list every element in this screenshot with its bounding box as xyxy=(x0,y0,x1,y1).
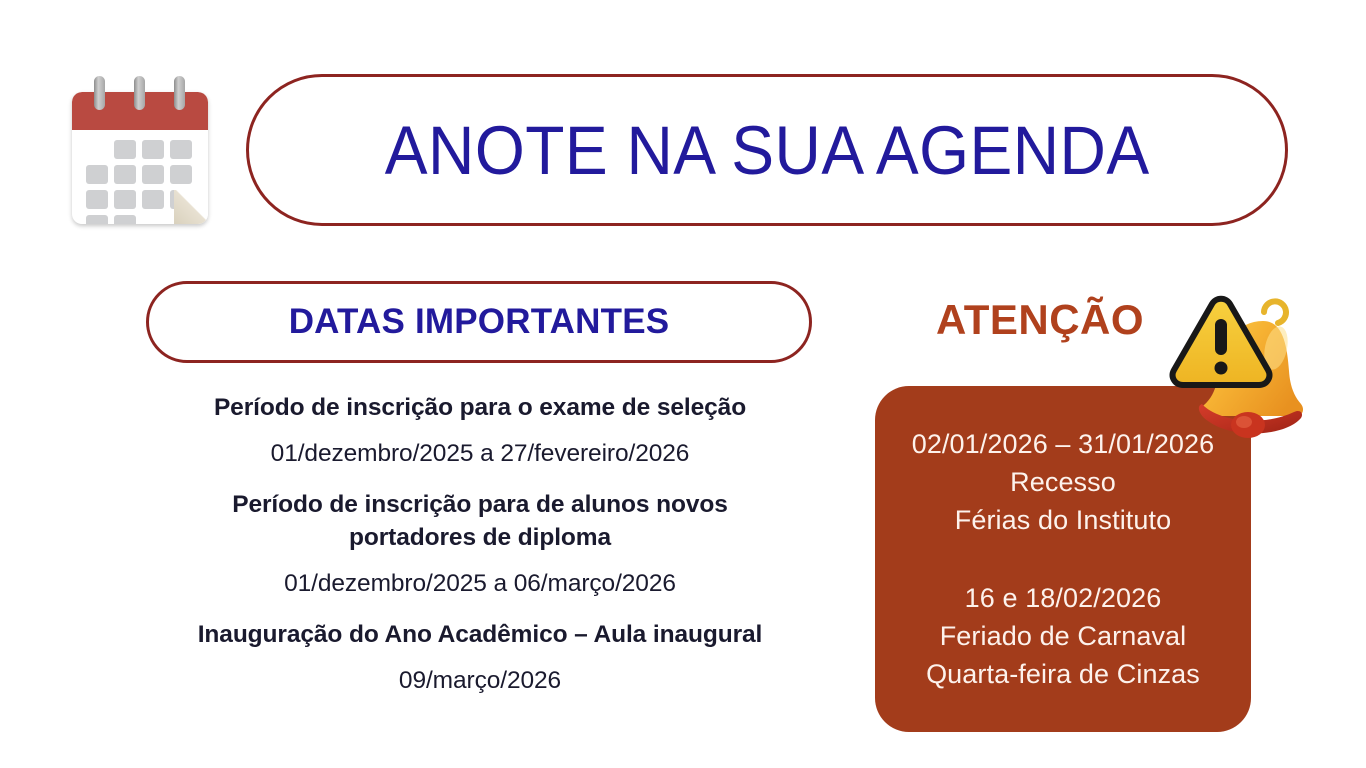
date-entry: Período de inscrição para de alunos novo… xyxy=(130,489,830,599)
important-dates-list: Período de inscrição para o exame de sel… xyxy=(130,392,830,697)
calendar-day-cell xyxy=(142,165,164,184)
attention-heading: ATENÇÃO xyxy=(936,296,1144,344)
date-entry-title: Período de inscrição para de alunos novo… xyxy=(130,489,830,522)
date-entry-title: Inauguração do Ano Acadêmico – Aula inau… xyxy=(130,619,830,652)
calendar-ring xyxy=(94,76,105,110)
date-entry-value: 01/dezembro/2025 a 06/março/2026 xyxy=(130,568,830,600)
date-entry-value: 09/março/2026 xyxy=(130,665,830,697)
calendar-day-cell xyxy=(114,165,136,184)
calendar-day-cell xyxy=(142,140,164,159)
calendar-body xyxy=(72,92,208,224)
date-entry: Inauguração do Ano Acadêmico – Aula inau… xyxy=(130,619,830,696)
calendar-day-cell xyxy=(86,165,108,184)
calendar-day-cell xyxy=(86,215,108,224)
notice-detail: Quarta-feira de Cinzas xyxy=(926,655,1200,693)
calendar-day-cell xyxy=(86,140,108,159)
notice-label: Recesso xyxy=(912,463,1215,501)
page-title: ANOTE NA SUA AGENDA xyxy=(385,111,1150,190)
warning-triangle-icon xyxy=(1173,299,1270,385)
calendar-day-cell xyxy=(170,165,192,184)
calendar-day-cell xyxy=(114,140,136,159)
calendar-page-fold xyxy=(174,190,208,224)
notice-date: 16 e 18/02/2026 xyxy=(926,579,1200,617)
calendar-day-cell xyxy=(170,140,192,159)
calendar-ring xyxy=(174,76,185,110)
date-entry: Período de inscrição para o exame de sel… xyxy=(130,392,830,469)
calendar-icon xyxy=(72,76,208,224)
calendar-rings xyxy=(72,76,208,110)
section-title-banner: DATAS IMPORTANTES xyxy=(146,281,812,363)
calendar-day-cell xyxy=(142,190,164,209)
calendar-day-cell xyxy=(86,190,108,209)
date-entry-title-cont: portadores de diploma xyxy=(130,522,830,555)
calendar-day-cell xyxy=(114,215,136,224)
notice-label: Feriado de Carnaval xyxy=(926,617,1200,655)
notice-block: 16 e 18/02/2026 Feriado de Carnaval Quar… xyxy=(926,579,1200,694)
section-title: DATAS IMPORTANTES xyxy=(289,302,670,342)
bell-icon xyxy=(1168,286,1316,446)
slide-canvas: ANOTE NA SUA AGENDA DATAS IMPORTANTES Pe… xyxy=(0,0,1366,768)
date-entry-title: Período de inscrição para o exame de sel… xyxy=(130,392,830,425)
main-title-banner: ANOTE NA SUA AGENDA xyxy=(246,74,1288,226)
calendar-day-cell xyxy=(142,215,164,224)
calendar-day-cell xyxy=(114,190,136,209)
calendar-ring xyxy=(134,76,145,110)
date-entry-value: 01/dezembro/2025 a 27/fevereiro/2026 xyxy=(130,438,830,470)
notice-detail: Férias do Instituto xyxy=(912,501,1215,539)
